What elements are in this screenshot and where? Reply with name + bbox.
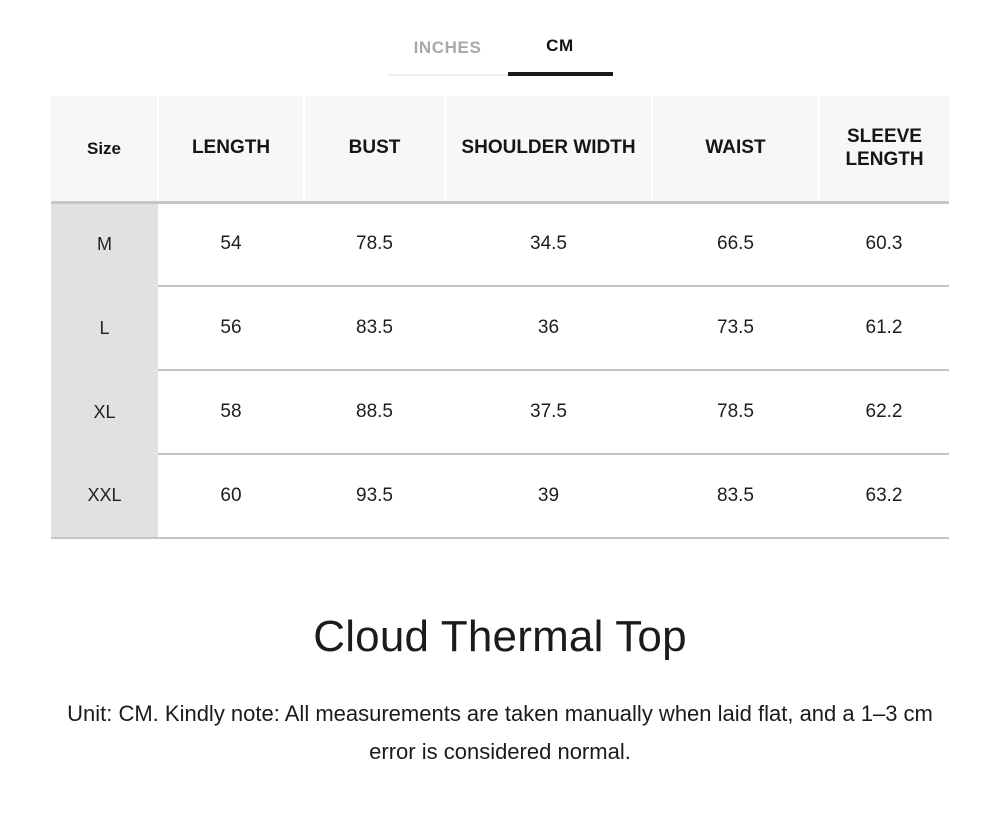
cell-length: 60 [158, 454, 304, 538]
cell-bust: 93.5 [304, 454, 445, 538]
unit-tab-bar: INCHES CM [0, 0, 1000, 76]
cell-size: L [51, 286, 158, 370]
size-chart-page: INCHES CM Size LENGTH BUST SHOULDER WIDT… [0, 0, 1000, 817]
cell-length: 58 [158, 370, 304, 454]
tab-inches[interactable]: INCHES [388, 38, 508, 76]
cell-shoulder-width: 34.5 [445, 202, 652, 286]
page-title: Cloud Thermal Top [0, 613, 1000, 661]
cell-sleeve-length: 61.2 [819, 286, 949, 370]
measurement-disclaimer: Unit: CM. Kindly note: All measurements … [45, 695, 955, 770]
size-table-container: Size LENGTH BUST SHOULDER WIDTH WAIST SL… [51, 96, 949, 539]
cell-size: XXL [51, 454, 158, 538]
column-header-shoulder-width: SHOULDER WIDTH [445, 96, 652, 202]
size-chart-table: Size LENGTH BUST SHOULDER WIDTH WAIST SL… [51, 96, 949, 539]
cell-shoulder-width: 37.5 [445, 370, 652, 454]
cell-waist: 73.5 [652, 286, 819, 370]
cell-bust: 78.5 [304, 202, 445, 286]
cell-bust: 88.5 [304, 370, 445, 454]
column-header-waist: WAIST [652, 96, 819, 202]
cell-sleeve-length: 63.2 [819, 454, 949, 538]
cell-bust: 83.5 [304, 286, 445, 370]
table-row: L 56 83.5 36 73.5 61.2 [51, 286, 949, 370]
cell-length: 54 [158, 202, 304, 286]
cell-sleeve-length: 60.3 [819, 202, 949, 286]
column-header-size: Size [51, 96, 158, 202]
column-header-length: LENGTH [158, 96, 304, 202]
table-row: XXL 60 93.5 39 83.5 63.2 [51, 454, 949, 538]
tab-cm[interactable]: CM [508, 36, 613, 76]
cell-waist: 83.5 [652, 454, 819, 538]
table-row: M 54 78.5 34.5 66.5 60.3 [51, 202, 949, 286]
column-header-bust: BUST [304, 96, 445, 202]
cell-size: M [51, 202, 158, 286]
cell-length: 56 [158, 286, 304, 370]
table-header-row: Size LENGTH BUST SHOULDER WIDTH WAIST SL… [51, 96, 949, 202]
cell-shoulder-width: 39 [445, 454, 652, 538]
table-head: Size LENGTH BUST SHOULDER WIDTH WAIST SL… [51, 96, 949, 202]
cell-waist: 78.5 [652, 370, 819, 454]
table-body: M 54 78.5 34.5 66.5 60.3 L 56 83.5 36 73… [51, 202, 949, 538]
cell-shoulder-width: 36 [445, 286, 652, 370]
cell-size: XL [51, 370, 158, 454]
cell-waist: 66.5 [652, 202, 819, 286]
column-header-sleeve-length: SLEEVE LENGTH [819, 96, 949, 202]
cell-sleeve-length: 62.2 [819, 370, 949, 454]
table-row: XL 58 88.5 37.5 78.5 62.2 [51, 370, 949, 454]
